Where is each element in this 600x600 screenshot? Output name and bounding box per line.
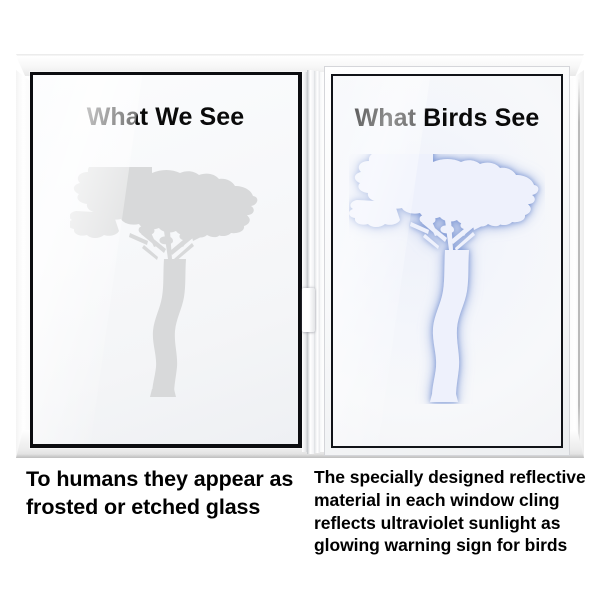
caption-right-line-4: glowing warning sign for birds <box>314 534 592 557</box>
caption-right: The specially designed reflective materi… <box>314 466 592 557</box>
caption-left-line-2: frosted or etched glass <box>26 494 306 522</box>
sash-latch-handle[interactable] <box>302 288 315 332</box>
window-unit: What We See <box>16 30 584 458</box>
caption-right-line-3: reflects ultraviolet sunlight as <box>314 512 592 535</box>
mullion-strip-2 <box>307 70 314 454</box>
window-pane-right[interactable]: What Birds See <box>324 66 570 456</box>
pane-left-title: What We See <box>33 103 298 132</box>
pane-left-artwork <box>33 167 298 399</box>
frame-right-edge-line <box>578 78 580 450</box>
pane-right-title: What Birds See <box>333 104 561 133</box>
caption-left: To humans they appear as frosted or etch… <box>26 466 306 522</box>
caption-left-line-1: To humans they appear as <box>26 466 306 494</box>
caption-right-line-1: The specially designed reflective <box>314 466 592 489</box>
pane-right-glass: What Birds See <box>333 76 561 446</box>
acacia-tree-silhouette-icon <box>70 167 262 399</box>
caption-right-line-2: material in each window cling <box>314 489 592 512</box>
pane-left-glass: What We See <box>33 75 298 444</box>
pane-right-artwork <box>333 154 561 404</box>
acacia-tree-glowing-icon <box>349 154 545 404</box>
window-pane-left[interactable]: What We See <box>30 72 304 448</box>
illustration-canvas: What We See <box>0 0 600 600</box>
pane-right-gasket: What Birds See <box>331 74 563 448</box>
